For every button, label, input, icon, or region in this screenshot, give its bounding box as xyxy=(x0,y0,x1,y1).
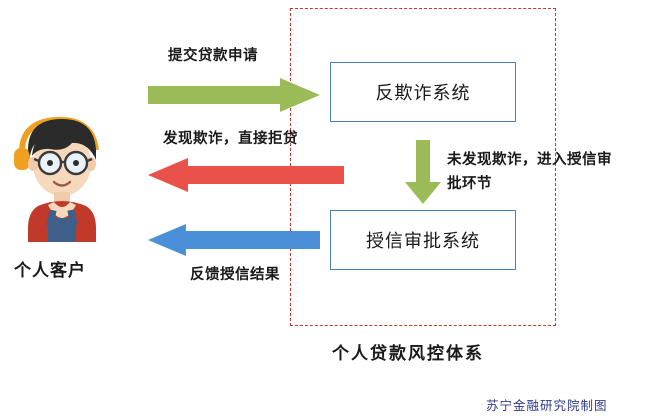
diagram-canvas: 反欺诈系统 授信审批系统 提交贷款申请 发现欺诈，直接拒贷 反馈授信结果 未发现… xyxy=(0,0,654,419)
arrow-label-fraud-rejected: 发现欺诈，直接拒贷 xyxy=(163,127,298,148)
diagram-title: 个人贷款风控体系 xyxy=(332,339,484,364)
actor-label-individual-customer: 个人客户 xyxy=(14,256,86,281)
arrow-fraud-rejected xyxy=(148,158,344,192)
arrow-label-credit-result-feedback: 反馈授信结果 xyxy=(190,263,280,284)
process-box-antifraud-label: 反欺诈系统 xyxy=(376,79,471,105)
credit-watermark: 苏宁金融研究院制图 xyxy=(486,395,608,414)
arrow-passed-to-credit xyxy=(405,140,441,204)
process-box-credit-approval-label: 授信审批系统 xyxy=(366,227,480,253)
person-avatar-icon xyxy=(8,106,116,242)
arrow-label-submit-application: 提交贷款申请 xyxy=(168,44,258,65)
arrow-credit-result-feedback xyxy=(148,224,320,256)
process-box-antifraud: 反欺诈系统 xyxy=(330,62,516,122)
process-box-credit-approval: 授信审批系统 xyxy=(330,210,516,270)
arrow-label-passed-line1: 未发现欺诈，进入授信审 xyxy=(447,148,612,169)
arrow-label-passed-line2: 批环节 xyxy=(447,172,492,193)
arrow-submit-application xyxy=(148,78,320,112)
